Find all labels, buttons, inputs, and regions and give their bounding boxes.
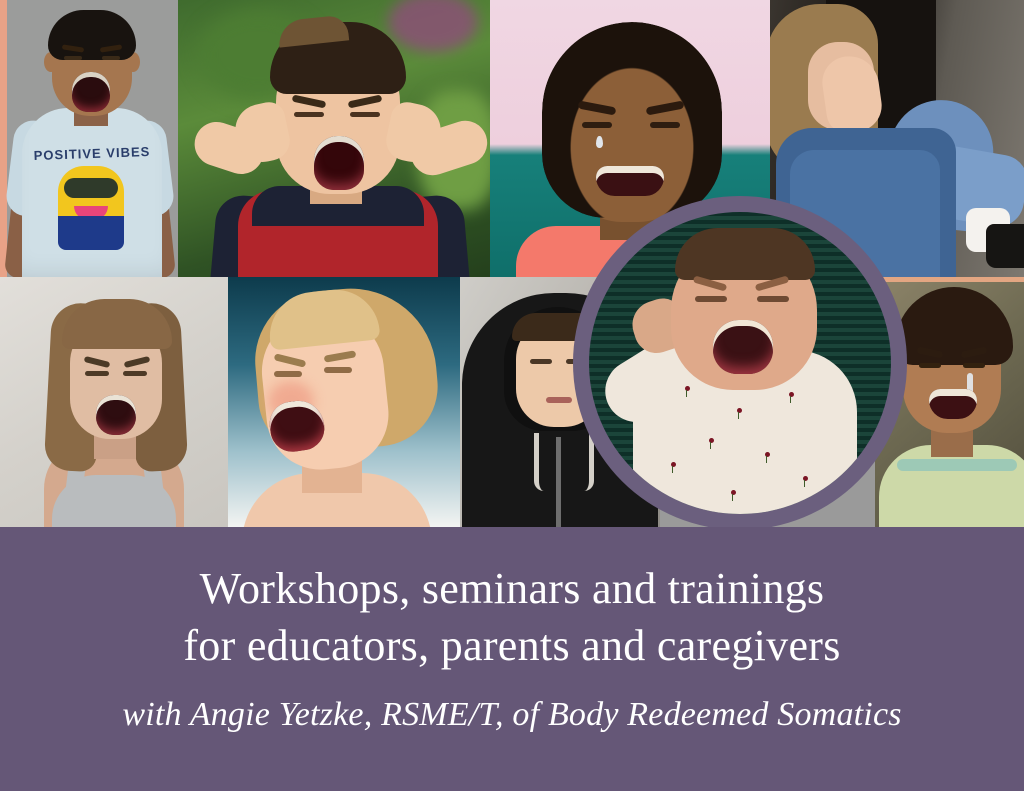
onesie-cherry-dot bbox=[765, 452, 770, 457]
eye-right bbox=[350, 112, 380, 117]
headline-line-2: for educators, parents and caregivers bbox=[183, 617, 840, 674]
photo-collage: POSITIVE VIBES bbox=[0, 0, 1024, 527]
photo-boy-yelling-grey: POSITIVE VIBES bbox=[0, 0, 178, 277]
top-accent-strip bbox=[875, 277, 1024, 282]
dress-trim bbox=[897, 459, 1017, 471]
poster: POSITIVE VIBES bbox=[0, 0, 1024, 791]
onesie-cherry-dot bbox=[685, 386, 690, 391]
text-banner: Workshops, seminars and trainings for ed… bbox=[0, 527, 1024, 791]
crying-mouth bbox=[929, 389, 977, 419]
presenter-credit: with Angie Yetzke, RSME/T, of Body Redee… bbox=[122, 696, 901, 734]
eye-right bbox=[324, 367, 352, 373]
open-mouth bbox=[72, 72, 110, 112]
eye-left bbox=[85, 371, 109, 376]
foliage-blur-flower bbox=[388, 0, 478, 52]
eye-right bbox=[650, 122, 680, 128]
photo-blonde-girl-crying bbox=[228, 277, 460, 527]
baby-crying-mouth bbox=[713, 320, 773, 374]
eye-left bbox=[530, 359, 552, 364]
onesie-cherry-dot bbox=[803, 476, 808, 481]
eye-left bbox=[274, 371, 302, 377]
onesie-cherry-dot bbox=[731, 490, 736, 495]
eye-right bbox=[963, 363, 985, 368]
hoodie-zipper bbox=[556, 437, 561, 527]
crying-mouth bbox=[596, 166, 664, 196]
onesie-cherry-dot bbox=[737, 408, 742, 413]
open-mouth bbox=[314, 136, 364, 190]
mouth bbox=[546, 397, 572, 403]
headline-line-1: Workshops, seminars and trainings bbox=[200, 560, 825, 617]
onesie-cherry-dot bbox=[709, 438, 714, 443]
hair bbox=[48, 10, 136, 60]
eye-right bbox=[102, 56, 120, 60]
hair bbox=[895, 287, 1013, 365]
screaming-mouth bbox=[96, 395, 136, 435]
photo-newborn-crying-circle-frame bbox=[573, 196, 907, 527]
baby-eye-left bbox=[695, 296, 727, 302]
green-tank-dress bbox=[879, 445, 1024, 527]
eye-left bbox=[294, 112, 324, 117]
eye-left bbox=[582, 122, 612, 128]
eye-right bbox=[123, 371, 147, 376]
left-accent-strip bbox=[0, 0, 7, 277]
onesie-cherry-dot bbox=[671, 462, 676, 467]
hoodie-drawstrings bbox=[534, 433, 594, 491]
eye-left bbox=[919, 363, 941, 368]
photo-newborn-crying bbox=[589, 212, 891, 514]
baby-hair bbox=[675, 228, 815, 280]
photo-woman-screaming bbox=[0, 277, 228, 527]
black-shoe bbox=[986, 224, 1024, 268]
tshirt-character-overalls bbox=[58, 216, 124, 250]
photo-boy-covering-ears bbox=[178, 0, 490, 277]
onesie-cherry-dot bbox=[789, 392, 794, 397]
eye-left bbox=[64, 56, 82, 60]
tear-drop bbox=[596, 136, 603, 148]
baby-eye-right bbox=[757, 296, 789, 302]
